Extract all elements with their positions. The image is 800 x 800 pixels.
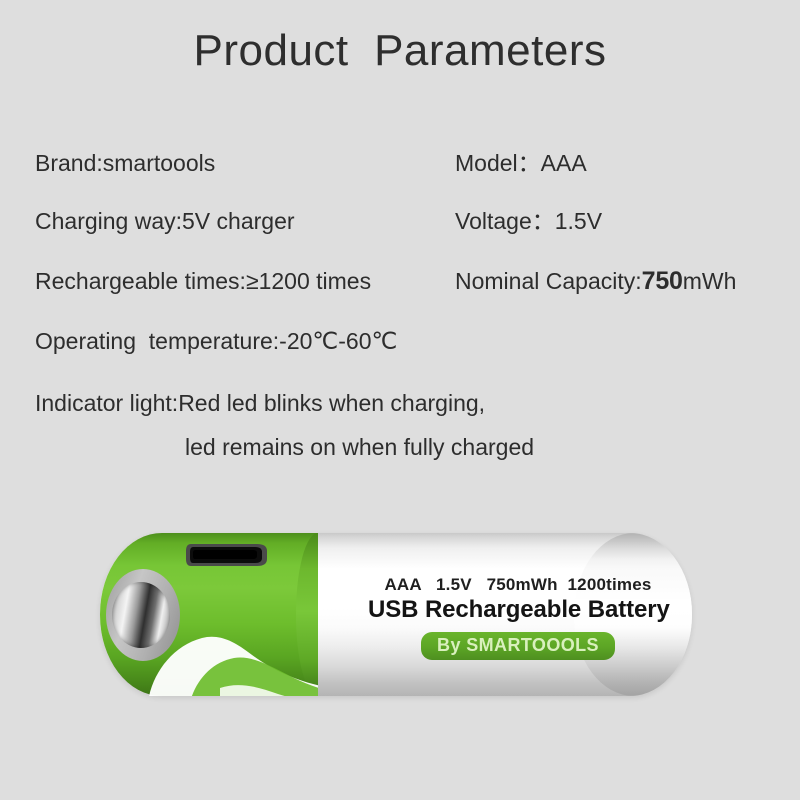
spec-rechargeable-times: Rechargeable times:≥1200 times <box>35 266 371 296</box>
spec-model: Model：AAA <box>455 148 587 178</box>
battery-brand-badge-wrap: By SMARTOOOLS <box>368 632 668 660</box>
spec-indicator-light: Indicator light:Red led blinks when char… <box>35 388 485 418</box>
spec-charging-way: Charging way:5V charger <box>35 206 295 236</box>
page-title: Product Parameters <box>0 26 800 76</box>
product-parameters-list: Brand:smartoools Model：AAA Charging way:… <box>0 148 800 478</box>
spec-indicator-light-continued: led remains on when fully charged <box>185 432 534 462</box>
battery-product-image: AAA 1.5V 750mWh 1200times USB Rechargeab… <box>100 533 692 696</box>
spec-row: Charging way:5V charger Voltage：1.5V <box>0 206 800 240</box>
spec-nominal-capacity: Nominal Capacity:750mWh <box>455 266 736 296</box>
battery-brand-badge: By SMARTOOOLS <box>421 632 615 660</box>
spec-row: Indicator light:Red led blinks when char… <box>0 388 800 422</box>
battery-spec-line: AAA 1.5V 750mWh 1200times <box>368 575 668 595</box>
spec-row: Rechargeable times:≥1200 times Nominal C… <box>0 266 800 300</box>
spec-voltage: Voltage：1.5V <box>455 206 602 236</box>
nominal-capacity-label: Nominal Capacity: <box>455 268 642 294</box>
micro-usb-port-icon <box>185 540 271 570</box>
nominal-capacity-value: 750 <box>642 267 683 295</box>
spec-row: Operating temperature:-20℃-60℃ <box>0 326 800 360</box>
nominal-capacity-unit: mWh <box>683 268 737 294</box>
spec-operating-temperature: Operating temperature:-20℃-60℃ <box>35 326 397 356</box>
spec-row: Brand:smartoools Model：AAA <box>0 148 800 182</box>
battery-title-line: USB Rechargeable Battery <box>368 596 668 624</box>
positive-terminal-icon <box>112 582 170 648</box>
battery-green-cap <box>100 533 318 696</box>
spec-row: led remains on when fully charged <box>0 432 800 466</box>
spec-brand: Brand:smartoools <box>35 148 215 178</box>
